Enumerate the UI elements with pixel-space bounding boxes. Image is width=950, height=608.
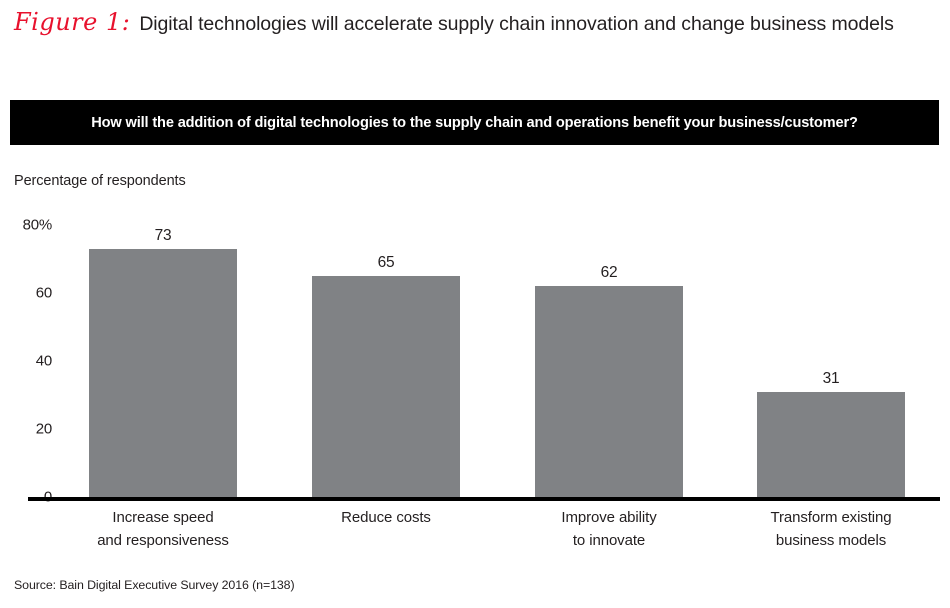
- bar-value-label-3: 62: [535, 264, 683, 282]
- question-banner-text: How will the addition of digital technol…: [77, 115, 871, 131]
- bar-rect-3[interactable]: [535, 286, 683, 497]
- category-label-line: Transform existing: [721, 506, 941, 529]
- category-label-line: and responsiveness: [53, 529, 273, 552]
- bar-4[interactable]: 31: [757, 392, 905, 497]
- bar-1[interactable]: 73: [89, 249, 237, 497]
- bar-3[interactable]: 62: [535, 286, 683, 497]
- x-axis-category-labels: Increase speedand responsivenessReduce c…: [0, 506, 950, 566]
- bar-value-label-4: 31: [757, 370, 905, 388]
- category-label-line: Reduce costs: [276, 506, 496, 529]
- category-label-3: Improve abilityto innovate: [499, 506, 719, 552]
- bar-rect-4[interactable]: [757, 392, 905, 497]
- y-axis-caption: Percentage of respondents: [14, 173, 186, 189]
- bar-rect-1[interactable]: [89, 249, 237, 497]
- x-axis-baseline: [28, 497, 940, 501]
- figure-number-label: Figure 1:: [14, 8, 130, 36]
- figure-title: Figure 1: Digital technologies will acce…: [14, 8, 939, 46]
- category-label-4: Transform existingbusiness models: [721, 506, 941, 552]
- bar-value-label-2: 65: [312, 254, 460, 272]
- bar-value-label-1: 73: [89, 227, 237, 245]
- bar-2[interactable]: 65: [312, 276, 460, 497]
- category-label-2: Reduce costs: [276, 506, 496, 529]
- bar-rect-2[interactable]: [312, 276, 460, 497]
- bar-series: 73656231: [0, 205, 950, 497]
- category-label-line: Increase speed: [53, 506, 273, 529]
- question-banner: How will the addition of digital technol…: [10, 100, 939, 145]
- category-label-line: Improve ability: [499, 506, 719, 529]
- category-label-line: business models: [721, 529, 941, 552]
- bar-chart: 020406080% 73656231: [0, 205, 950, 505]
- category-label-line: to innovate: [499, 529, 719, 552]
- source-note: Source: Bain Digital Executive Survey 20…: [14, 578, 295, 592]
- page-title: Digital technologies will accelerate sup…: [139, 13, 893, 36]
- category-label-1: Increase speedand responsiveness: [53, 506, 273, 552]
